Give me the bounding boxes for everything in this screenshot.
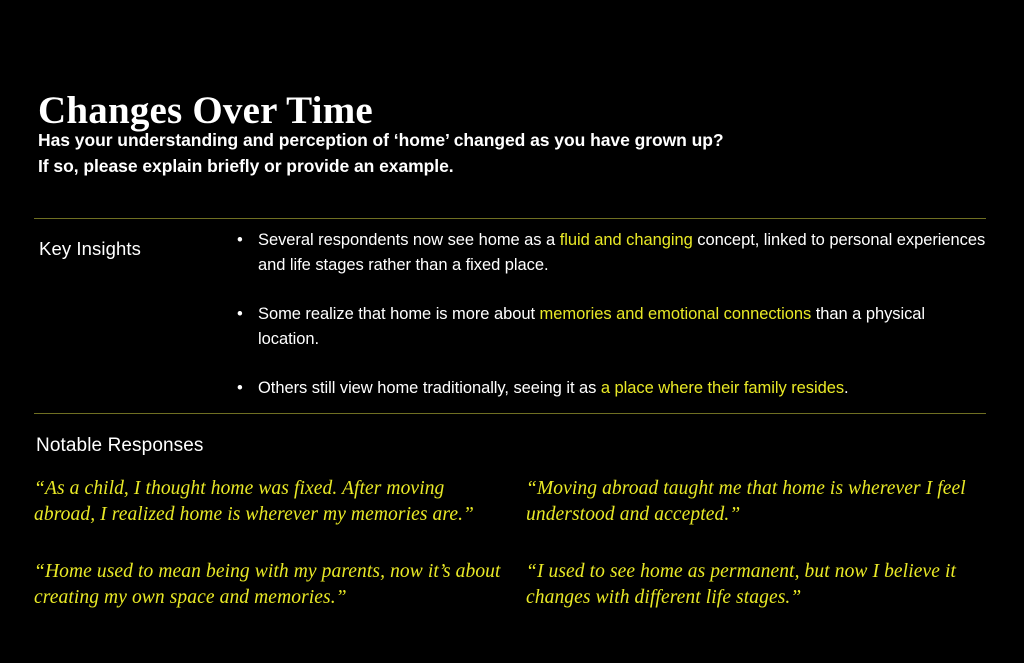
question-line-1: Has your understanding and perception of…	[38, 128, 724, 154]
quote-item: “As a child, I thought home was fixed. A…	[34, 476, 502, 527]
page-title: Changes Over Time	[38, 90, 373, 133]
question-line-2: If so, please explain briefly or provide…	[38, 154, 724, 180]
slide-canvas: Changes Over Time Has your understanding…	[0, 0, 1024, 663]
insight-text-post: .	[844, 379, 849, 397]
quote-item: “Moving abroad taught me that home is wh…	[526, 476, 994, 527]
list-item: • Several respondents now see home as a …	[232, 228, 988, 278]
divider-top	[34, 218, 986, 219]
key-insights-list: • Several respondents now see home as a …	[232, 228, 988, 401]
quote-item: “Home used to mean being with my parents…	[34, 559, 502, 610]
question-prompt: Has your understanding and perception of…	[38, 128, 724, 179]
notable-responses-grid: “As a child, I thought home was fixed. A…	[34, 476, 994, 611]
bullet-icon: •	[237, 228, 243, 253]
list-item: • Others still view home traditionally, …	[232, 376, 988, 401]
insight-highlight: memories and emotional connections	[540, 305, 812, 323]
notable-responses-label: Notable Responses	[36, 435, 204, 457]
list-item: • Some realize that home is more about m…	[232, 302, 988, 352]
quote-item: “I used to see home as permanent, but no…	[526, 559, 994, 610]
divider-bottom	[34, 413, 986, 414]
insight-text-pre: Several respondents now see home as a	[258, 231, 560, 249]
insight-text-pre: Others still view home traditionally, se…	[258, 379, 601, 397]
bullet-icon: •	[237, 302, 243, 327]
insight-highlight: a place where their family resides	[601, 379, 844, 397]
key-insights-label: Key Insights	[39, 238, 141, 260]
bullet-icon: •	[237, 376, 243, 401]
insight-highlight: fluid and changing	[560, 231, 693, 249]
insight-text-pre: Some realize that home is more about	[258, 305, 540, 323]
